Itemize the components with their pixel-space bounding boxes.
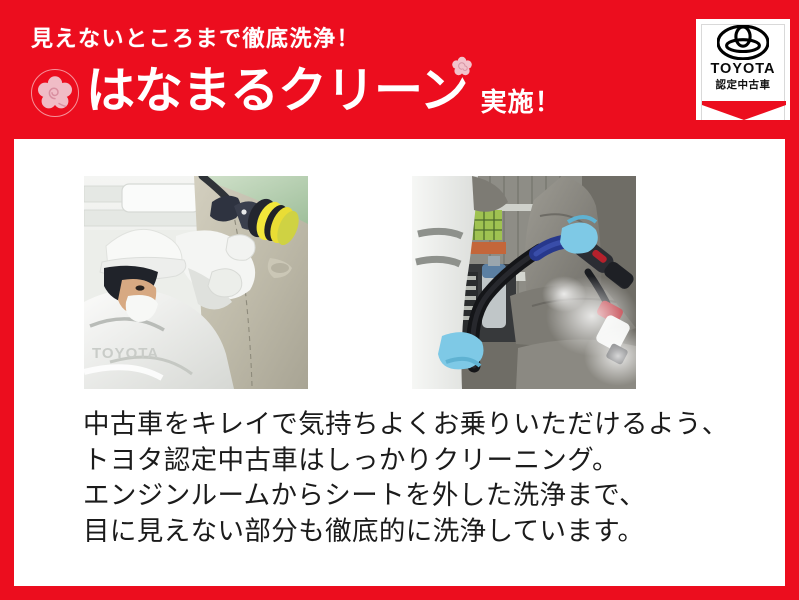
content-panel: TOYOTA bbox=[14, 139, 785, 586]
hanamaru-flower-icon bbox=[30, 68, 80, 118]
jisshi-label: 実施！ bbox=[481, 82, 562, 119]
svg-text:TOYOTA: TOYOTA bbox=[92, 345, 159, 362]
toyota-chevron-banner-icon bbox=[702, 101, 786, 120]
seat-steam-cleaning-photo bbox=[412, 176, 636, 389]
hanamaru-clean-logotype: はなまるクリーン bbox=[86, 67, 468, 116]
body-line-2: トヨタ認定中古車はしっかりクリーニング。 bbox=[83, 443, 743, 479]
toyota-logo-inner: TOYOTA 認定中古車 bbox=[701, 24, 785, 120]
logotype-text: はなまるクリーン bbox=[86, 64, 468, 118]
photo-steam bbox=[412, 176, 636, 389]
body-line-4: 目に見えない部分も徹底的に洗浄しています。 bbox=[83, 514, 743, 550]
toyota-certified-label: 認定中古車 bbox=[716, 80, 771, 91]
car-polishing-photo: TOYOTA bbox=[84, 176, 308, 389]
hanamaru-clean-poster: 見えないところまで徹底洗浄！ bbox=[0, 0, 799, 600]
body-copy: 中古車をキレイで気持ちよくお乗りいただけるよう、 トヨタ認定中古車はしっかりクリ… bbox=[83, 407, 743, 549]
page-headline: 見えないところまで徹底洗浄！ bbox=[31, 28, 360, 50]
small-flower-icon bbox=[452, 56, 472, 76]
flower-glyph-icon bbox=[37, 75, 73, 111]
body-line-1: 中古車をキレイで気持ちよくお乗りいただけるよう、 bbox=[83, 407, 743, 443]
toyota-ellipse-emblem-icon bbox=[717, 25, 769, 60]
toyota-wordmark: TOYOTA bbox=[710, 62, 775, 77]
header-band: 見えないところまで徹底洗浄！ bbox=[0, 0, 799, 139]
toyota-certified-logo: TOYOTA 認定中古車 bbox=[696, 19, 790, 120]
photo-row: TOYOTA bbox=[84, 176, 718, 389]
logotype-row: はなまるクリーン 実施！ bbox=[30, 61, 562, 125]
photo-polish: TOYOTA bbox=[84, 176, 308, 389]
body-line-3: エンジンルームからシートを外した洗浄まで、 bbox=[83, 478, 743, 514]
